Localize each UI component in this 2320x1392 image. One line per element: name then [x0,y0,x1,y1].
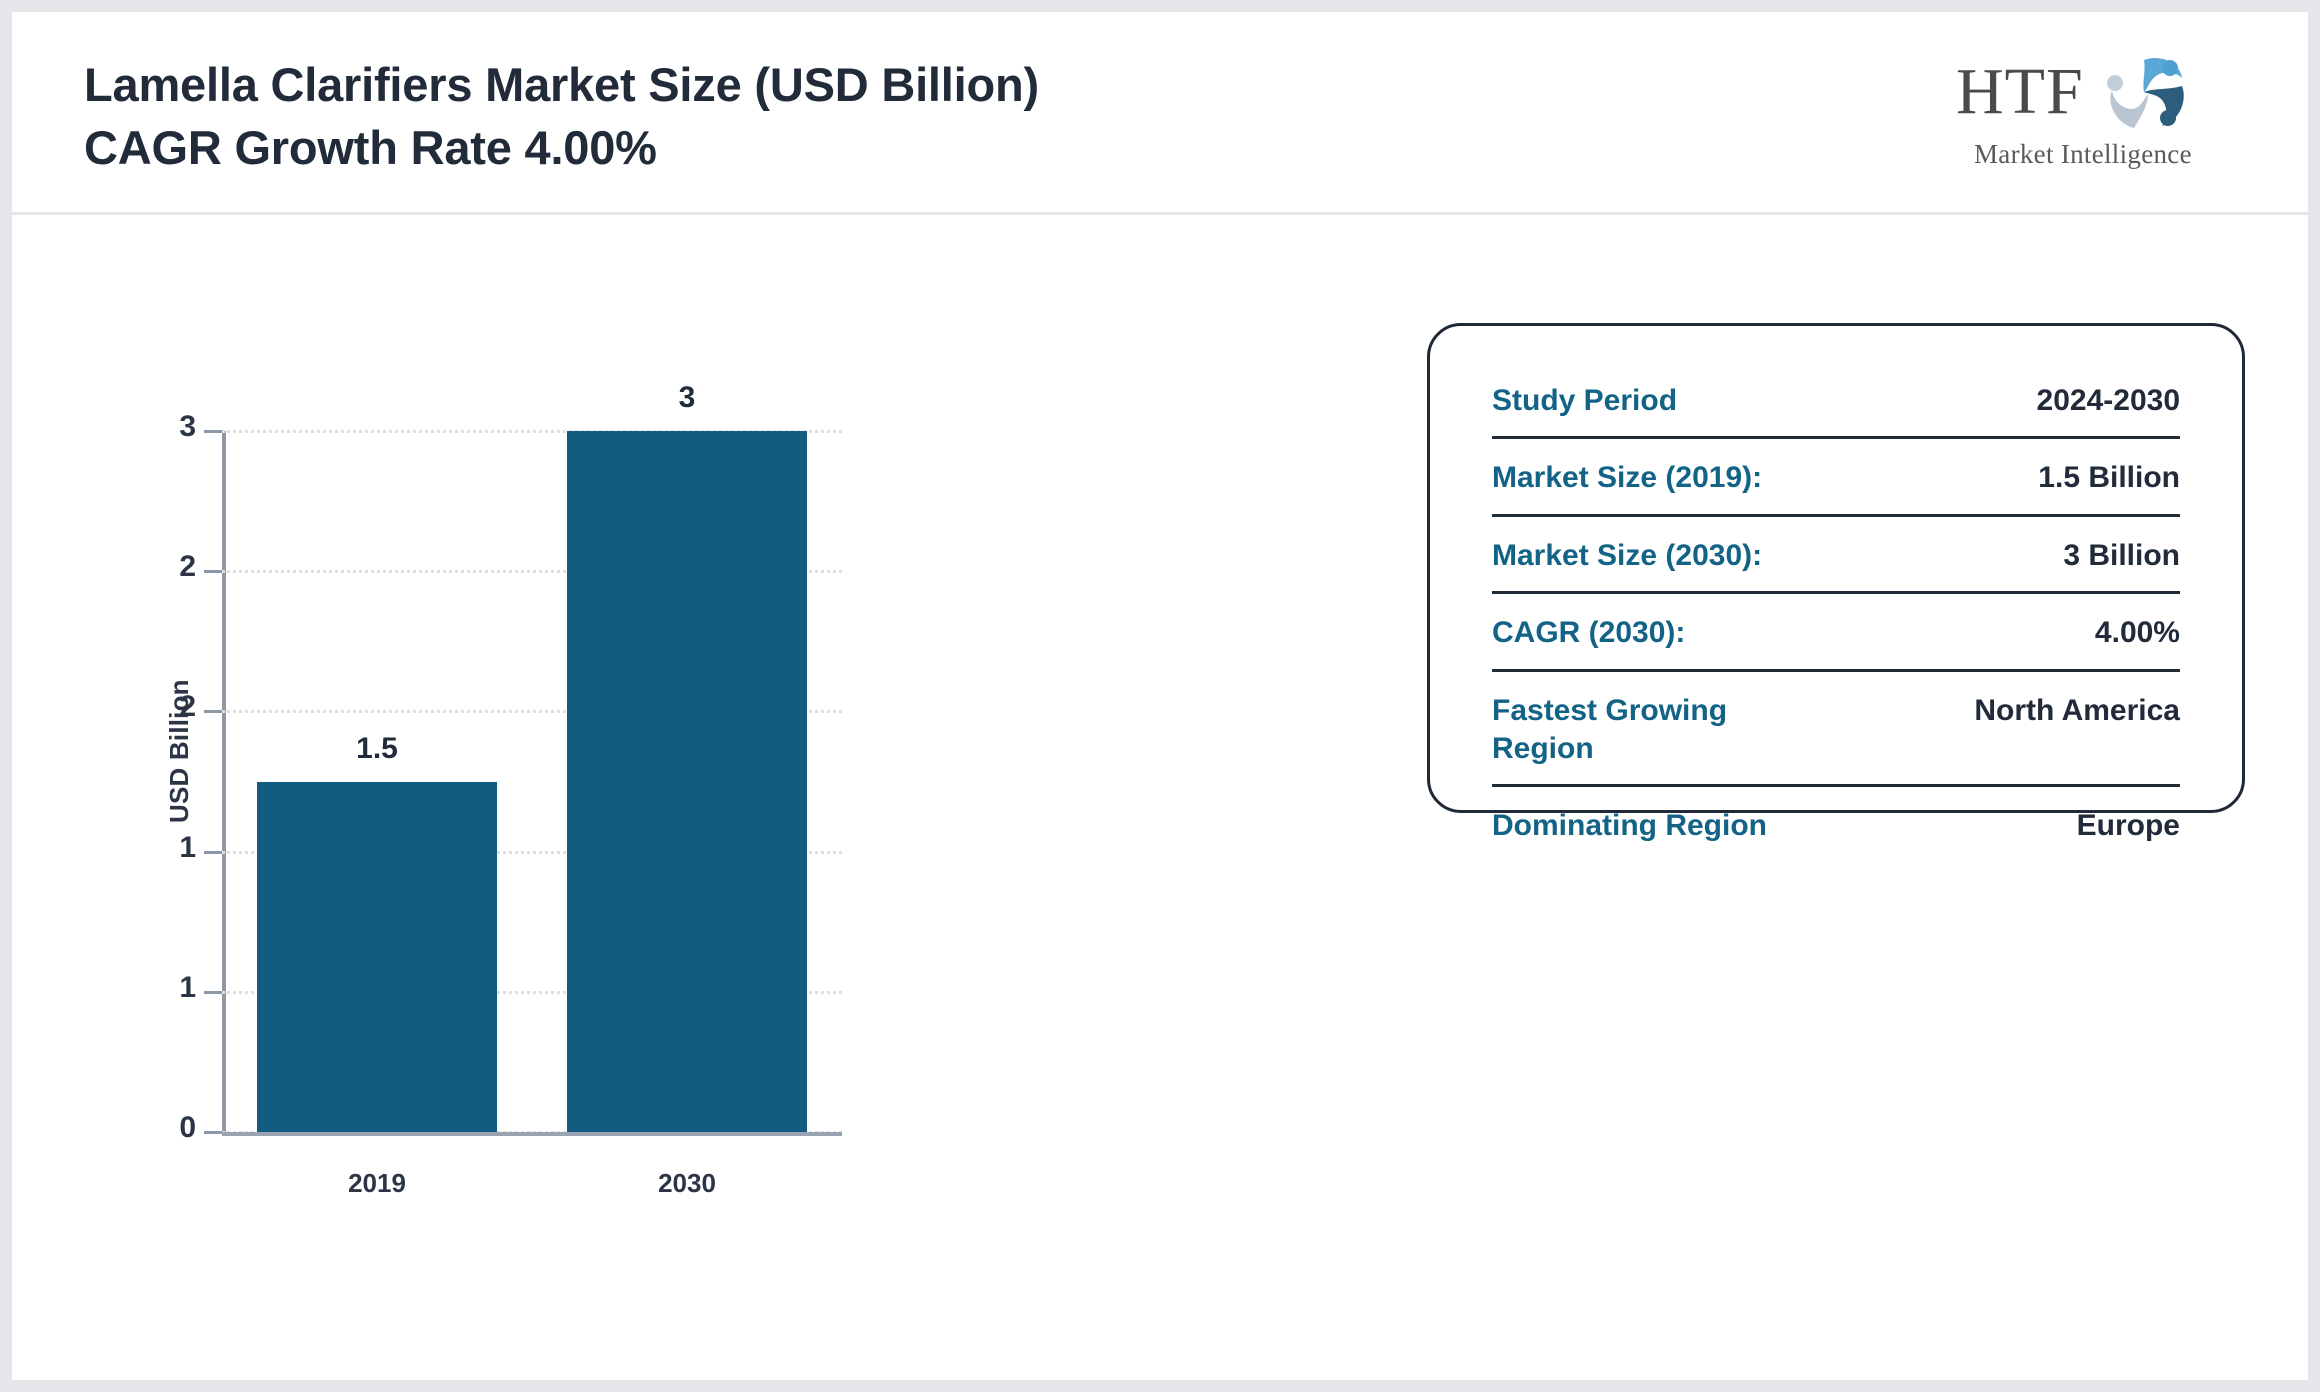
info-row-label: Market Size (2019): [1492,459,1762,497]
info-row: Market Size (2019):1.5 Billion [1492,459,2180,516]
bar-value-label: 1.5 [277,732,477,766]
y-axis-tick-mark [204,430,222,433]
y-axis-tick-mark [204,851,222,854]
x-axis-category-label: 2019 [277,1168,477,1199]
bar-value-label: 3 [587,381,787,415]
info-row-label: CAGR (2030): [1492,614,1685,652]
y-axis-tick-label: 2 [150,550,196,584]
y-axis-tick-mark [204,991,222,994]
y-axis-tick-label: 0 [150,1111,196,1145]
info-row-value: 4.00% [2095,614,2180,652]
info-row-label: Study Period [1492,382,1677,420]
info-row-label: Fastest Growing Region [1492,692,1822,769]
htf-logo: HTF Market Intelligence [1956,52,2206,170]
swirl-three-figures-icon [2098,52,2190,134]
page-root: Lamella Clarifiers Market Size (USD Bill… [0,0,2320,1392]
info-row: Market Size (2030):3 Billion [1492,537,2180,594]
info-row-value: North America [1974,692,2180,730]
logo-wordmark: HTF [1956,58,2084,126]
y-axis-tick-mark [204,1131,222,1134]
info-row-value: 3 Billion [2063,537,2180,575]
x-axis-category-label: 2030 [587,1168,787,1199]
y-axis-tick-mark [204,570,222,573]
market-summary-card: Study Period2024-2030Market Size (2019):… [1427,323,2245,813]
header: Lamella Clarifiers Market Size (USD Bill… [12,12,2308,215]
y-axis-tick-label: 1 [150,831,196,865]
bar-chart: USD Billion 0112231.5201932030 [12,215,1342,1377]
y-axis-tick-label: 3 [150,410,196,444]
plot-area: 0112231.5201932030 [222,215,1342,1155]
content-area: USD Billion 0112231.5201932030 Study Per… [12,215,2308,1377]
logo-mark: HTF [1956,52,2206,134]
bar-2019[interactable] [257,782,497,1133]
info-row-value: Europe [2077,807,2180,845]
info-row: Dominating RegionEurope [1492,807,2180,861]
logo-tagline: Market Intelligence [1974,139,2192,170]
info-row-value: 2024-2030 [2037,382,2180,420]
x-axis-line [222,1132,842,1136]
info-row: CAGR (2030):4.00% [1492,614,2180,671]
page-title-line-1: Lamella Clarifiers Market Size (USD Bill… [84,54,1039,117]
page-title: Lamella Clarifiers Market Size (USD Bill… [84,50,1039,180]
y-axis-tick-label: 2 [150,690,196,724]
info-row: Fastest Growing RegionNorth America [1492,692,2180,788]
info-row-list: Study Period2024-2030Market Size (2019):… [1492,382,2180,862]
page-title-line-2: CAGR Growth Rate 4.00% [84,117,1039,180]
bar-2030[interactable] [567,431,807,1132]
y-axis-line [222,431,226,1132]
y-axis-tick-label: 1 [150,971,196,1005]
info-row-value: 1.5 Billion [2038,459,2180,497]
y-axis-tick-mark [204,710,222,713]
info-row: Study Period2024-2030 [1492,382,2180,439]
info-row-label: Market Size (2030): [1492,537,1762,575]
info-row-label: Dominating Region [1492,807,1767,845]
